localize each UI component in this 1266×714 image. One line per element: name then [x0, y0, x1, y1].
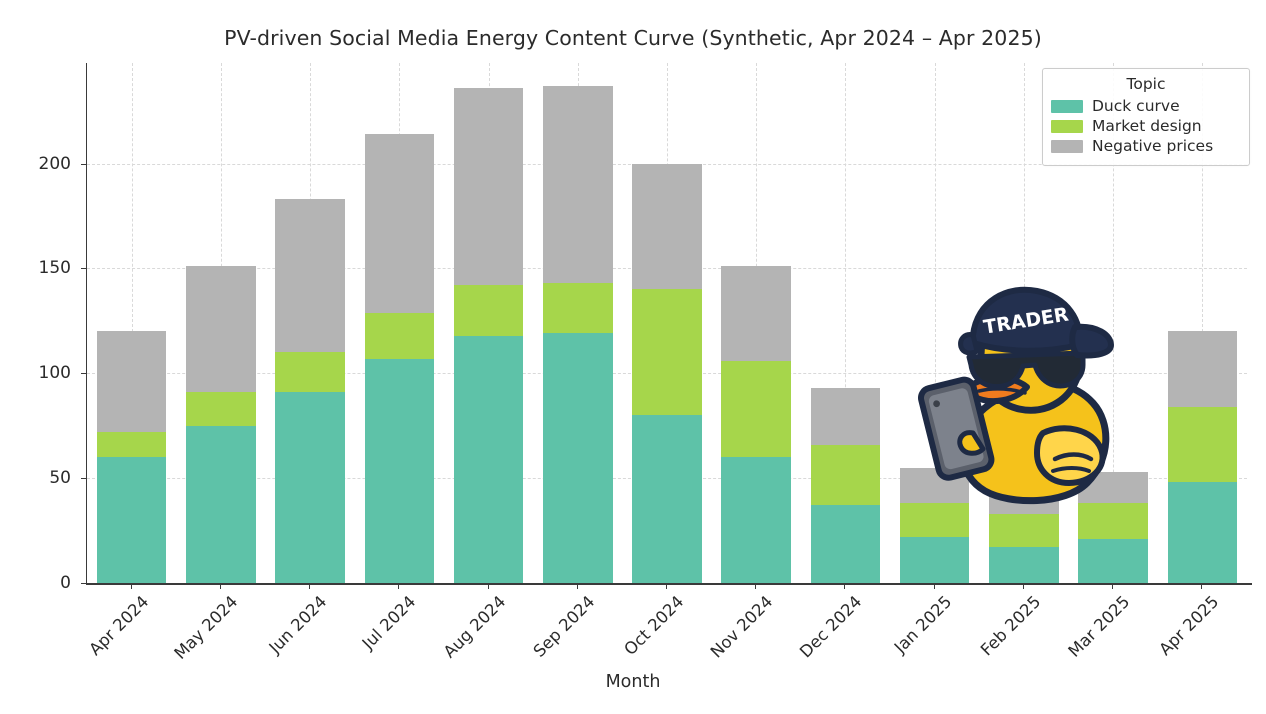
x-axis-tick — [488, 583, 489, 589]
x-axis-tick-label: May 2024 — [170, 592, 241, 663]
bar-segment-duck-curve — [1168, 482, 1238, 583]
chart-title: PV-driven Social Media Energy Content Cu… — [0, 26, 1266, 50]
legend-item-duck-curve[interactable]: Duck curve — [1051, 97, 1241, 115]
bar-segment-negative-prices — [721, 266, 791, 360]
bar-segment-negative-prices — [811, 388, 881, 445]
x-axis-tick-label: Jan 2025 — [890, 592, 955, 657]
bar-segment-market-design — [811, 445, 881, 506]
bar-segment-negative-prices — [186, 266, 256, 392]
x-axis-tick-label: Apr 2024 — [85, 592, 152, 659]
x-axis-tick-label: Jun 2024 — [265, 592, 330, 657]
bar-segment-market-design — [1078, 503, 1148, 539]
y-axis-tick — [81, 478, 87, 479]
bar-segment-market-design — [454, 285, 524, 335]
bar-segment-market-design — [275, 352, 345, 392]
x-axis-tick-label: Apr 2025 — [1156, 592, 1223, 659]
bar-segment-market-design — [1168, 407, 1238, 482]
x-axis-tick-label: Feb 2025 — [977, 592, 1044, 659]
bar-segment-market-design — [721, 361, 791, 457]
bar-stack — [721, 63, 791, 583]
bar-segment-market-design — [989, 514, 1059, 548]
y-axis-tick — [81, 164, 87, 165]
bar-stack — [543, 63, 613, 583]
x-axis-tick — [1201, 583, 1202, 589]
bar-segment-duck-curve — [900, 537, 970, 583]
bar-segment-negative-prices — [365, 134, 435, 312]
trader-duck-watermark-icon: TRADER — [915, 283, 1130, 508]
legend-title: Topic — [1051, 75, 1241, 93]
x-axis-tick — [577, 583, 578, 589]
x-axis-label: Month — [0, 672, 1266, 692]
x-axis-tick — [309, 583, 310, 589]
bar-segment-negative-prices — [454, 88, 524, 285]
x-axis-tick — [220, 583, 221, 589]
x-axis-tick — [1112, 583, 1113, 589]
y-axis-tick — [81, 373, 87, 374]
bar-stack — [186, 63, 256, 583]
bar-segment-negative-prices — [543, 86, 613, 283]
x-axis-tick-label: Aug 2024 — [439, 592, 509, 662]
chart-figure: PV-driven Social Media Energy Content Cu… — [0, 0, 1266, 714]
legend-item-market-design[interactable]: Market design — [1051, 117, 1241, 135]
bar-stack — [632, 63, 702, 583]
x-axis-tick-label: Mar 2025 — [1065, 592, 1134, 661]
bar-segment-negative-prices — [275, 199, 345, 352]
bar-segment-duck-curve — [811, 505, 881, 583]
x-axis-tick-label: Nov 2024 — [707, 592, 777, 662]
bar-segment-market-design — [97, 432, 167, 457]
bar-segment-market-design — [900, 503, 970, 537]
x-axis-tick-label: Jul 2024 — [359, 592, 420, 653]
bar-segment-negative-prices — [1168, 331, 1238, 406]
bar-segment-duck-curve — [632, 415, 702, 583]
legend: Topic Duck curveMarket designNegative pr… — [1042, 68, 1250, 166]
x-axis-tick-label: Dec 2024 — [796, 592, 865, 661]
bar-stack — [365, 63, 435, 583]
y-axis-tick — [81, 268, 87, 269]
bar-segment-duck-curve — [275, 392, 345, 583]
y-axis-tick-label: 100 — [11, 363, 71, 383]
y-axis-tick-label: 50 — [11, 468, 71, 488]
x-axis-tick — [844, 583, 845, 589]
bar-segment-negative-prices — [632, 164, 702, 290]
bar-segment-duck-curve — [97, 457, 167, 583]
bar-stack — [275, 63, 345, 583]
bar-segment-market-design — [632, 289, 702, 415]
bar-segment-duck-curve — [186, 426, 256, 583]
legend-item-label: Duck curve — [1092, 97, 1180, 115]
bar-segment-duck-curve — [543, 333, 613, 583]
bar-segment-duck-curve — [989, 547, 1059, 583]
x-axis-tick-label: Sep 2024 — [529, 592, 598, 661]
bar-stack — [811, 63, 881, 583]
y-axis-tick-label: 150 — [11, 258, 71, 278]
legend-item-label: Market design — [1092, 117, 1202, 135]
x-axis-line — [86, 583, 1252, 585]
bar-stack — [97, 63, 167, 583]
legend-item-label: Negative prices — [1092, 137, 1213, 155]
bar-segment-market-design — [543, 283, 613, 333]
bar-segment-market-design — [365, 313, 435, 359]
legend-swatch-icon — [1051, 140, 1083, 153]
x-axis-tick — [131, 583, 132, 589]
bar-stack — [454, 63, 524, 583]
x-axis-tick — [1023, 583, 1024, 589]
x-axis-tick-label: Oct 2024 — [620, 592, 687, 659]
x-axis-tick — [755, 583, 756, 589]
bar-segment-duck-curve — [721, 457, 791, 583]
legend-swatch-icon — [1051, 120, 1083, 133]
bar-segment-negative-prices — [97, 331, 167, 432]
x-axis-tick — [934, 583, 935, 589]
x-axis-tick — [666, 583, 667, 589]
bar-segment-duck-curve — [1078, 539, 1148, 583]
bar-segment-duck-curve — [365, 359, 435, 583]
y-axis-tick-label: 200 — [11, 154, 71, 174]
bar-segment-duck-curve — [454, 336, 524, 583]
legend-item-negative-prices[interactable]: Negative prices — [1051, 137, 1241, 155]
x-axis-tick — [398, 583, 399, 589]
y-axis-tick-label: 0 — [11, 573, 71, 593]
bar-segment-market-design — [186, 392, 256, 426]
legend-swatch-icon — [1051, 100, 1083, 113]
